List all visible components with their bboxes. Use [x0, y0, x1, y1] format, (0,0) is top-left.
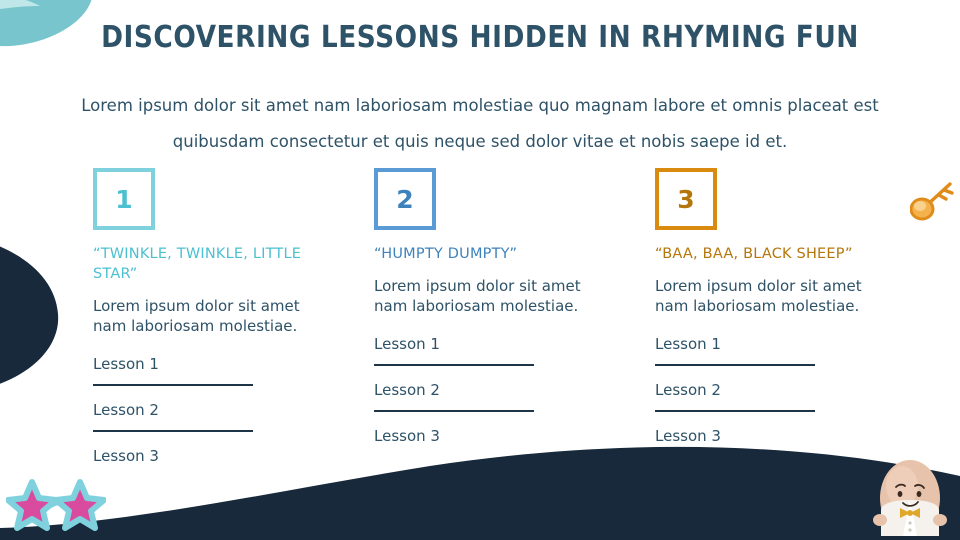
star-glasses-icon: [6, 476, 106, 532]
blob-left-icon: [0, 232, 72, 392]
number-badge-3-label: 3: [677, 187, 694, 212]
list-item[interactable]: Lesson 2: [93, 400, 253, 432]
column-1-lesson-list: Lesson 1 Lesson 2 Lesson 3: [93, 354, 331, 466]
column-3-lesson-list: Lesson 1 Lesson 2 Lesson 3: [655, 334, 893, 446]
list-item[interactable]: Lesson 1: [655, 334, 815, 366]
column-2: 2 “Humpty Dumpty” Lorem ipsum dolor sit …: [374, 168, 612, 482]
intro-paragraph: Lorem ipsum dolor sit amet nam laboriosa…: [72, 88, 888, 160]
slide-canvas: Discovering Lessons Hidden in Rhyming Fu…: [0, 0, 960, 540]
column-2-heading: “Humpty Dumpty”: [374, 244, 612, 264]
key-icon: [910, 176, 958, 226]
column-3-heading: “Baa, Baa, Black Sheep”: [655, 244, 893, 264]
list-item[interactable]: Lesson 3: [655, 426, 815, 446]
number-badge-1: 1: [93, 168, 155, 230]
column-3: 3 “Baa, Baa, Black Sheep” Lorem ipsum do…: [655, 168, 893, 482]
list-item[interactable]: Lesson 2: [655, 380, 815, 412]
number-badge-2-label: 2: [396, 187, 413, 212]
column-1-description: Lorem ipsum dolor sit amet nam laboriosa…: [93, 296, 331, 336]
column-2-lesson-list: Lesson 1 Lesson 2 Lesson 3: [374, 334, 612, 446]
columns-container: 1 “Twinkle, Twinkle, Little Star” Lorem …: [93, 168, 893, 482]
column-1-heading: “Twinkle, Twinkle, Little Star”: [93, 244, 331, 284]
list-item[interactable]: Lesson 3: [374, 426, 534, 446]
column-2-description: Lorem ipsum dolor sit amet nam laboriosa…: [374, 276, 612, 316]
list-item[interactable]: Lesson 1: [93, 354, 253, 386]
page-title: Discovering Lessons Hidden in Rhyming Fu…: [58, 20, 903, 55]
column-3-description: Lorem ipsum dolor sit amet nam laboriosa…: [655, 276, 893, 316]
list-item[interactable]: Lesson 1: [374, 334, 534, 366]
number-badge-3: 3: [655, 168, 717, 230]
list-item[interactable]: Lesson 2: [374, 380, 534, 412]
list-item[interactable]: Lesson 3: [93, 446, 253, 466]
column-1: 1 “Twinkle, Twinkle, Little Star” Lorem …: [93, 168, 331, 482]
number-badge-2: 2: [374, 168, 436, 230]
number-badge-1-label: 1: [115, 187, 132, 212]
